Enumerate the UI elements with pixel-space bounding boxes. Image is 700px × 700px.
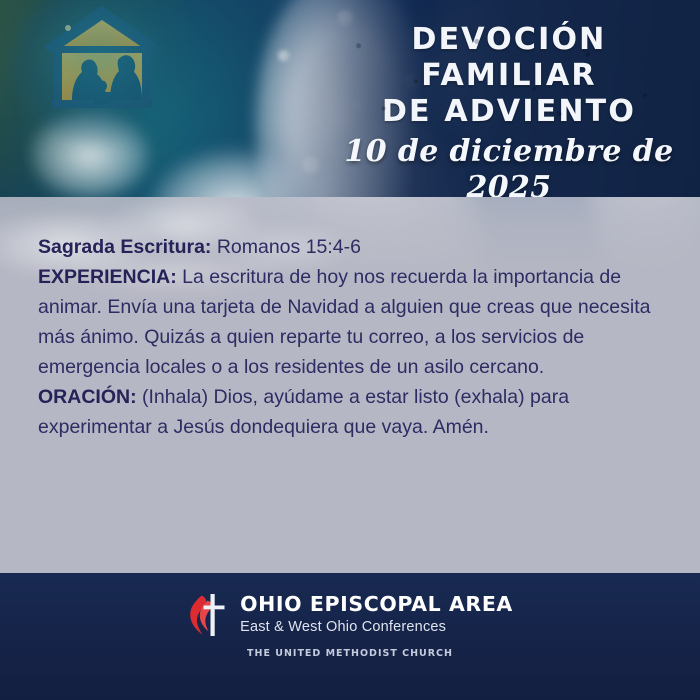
- prayer-block: ORACIÓN: (Inhala) Dios, ayúdame a estar …: [38, 382, 668, 442]
- header-banner: DEVOCIÓN FAMILIAR DE ADVIENTO 10 de dici…: [0, 0, 700, 197]
- scripture-label: Sagrada Escritura:: [38, 236, 211, 258]
- footer-banner: OHIO EPISCOPAL AREA East & West Ohio Con…: [0, 573, 700, 700]
- area-name: OHIO EPISCOPAL AREA: [240, 593, 513, 616]
- advent-devotion-card: DEVOCIÓN FAMILIAR DE ADVIENTO 10 de dici…: [0, 0, 700, 700]
- organization-logo: OHIO EPISCOPAL AREA East & West Ohio Con…: [0, 573, 700, 700]
- title-line-1: DEVOCIÓN FAMILIAR: [412, 22, 607, 93]
- devotion-date: 10 de diciembre de 2025: [330, 134, 688, 197]
- experience-block: EXPERIENCIA: La escritura de hoy nos rec…: [38, 262, 668, 382]
- nativity-scene-icon: [38, 2, 166, 114]
- logo-wordmark: OHIO EPISCOPAL AREA East & West Ohio Con…: [240, 593, 513, 637]
- prayer-label: ORACIÓN:: [38, 386, 137, 408]
- cross-and-flame-icon: [187, 591, 227, 639]
- title-line-2: DE ADVIENTO: [330, 94, 688, 130]
- logo-row: OHIO EPISCOPAL AREA East & West Ohio Con…: [187, 591, 513, 639]
- scripture-block: Sagrada Escritura: Romanos 15:4-6: [38, 232, 668, 262]
- title-text: DEVOCIÓN FAMILIAR DE ADVIENTO: [330, 22, 688, 130]
- scripture-reference: Romanos 15:4-6: [211, 236, 361, 258]
- content-panel: Sagrada Escritura: Romanos 15:4-6 EXPERI…: [0, 197, 700, 573]
- area-subtitle: East & West Ohio Conferences: [240, 618, 446, 637]
- page-title: DEVOCIÓN FAMILIAR DE ADVIENTO: [330, 22, 688, 130]
- devotion-body: Sagrada Escritura: Romanos 15:4-6 EXPERI…: [38, 232, 668, 442]
- experience-label: EXPERIENCIA:: [38, 266, 177, 288]
- denomination-label: THE UNITED METHODIST CHURCH: [247, 648, 453, 659]
